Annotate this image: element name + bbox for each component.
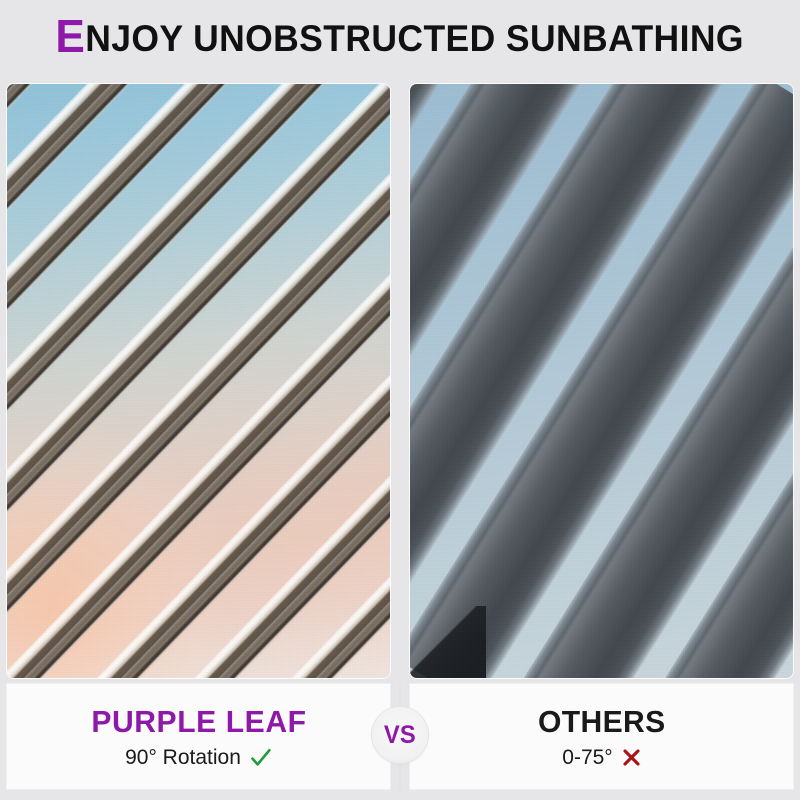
image-panel-others xyxy=(410,84,793,678)
comparison-images xyxy=(7,84,793,678)
headline-rest: NJOY UNOBSTRUCTED SUNBATHING xyxy=(86,18,745,59)
vs-badge-label: VS xyxy=(384,721,416,750)
page-title: ENJOY UNOBSTRUCTED SUNBATHING xyxy=(0,0,800,78)
spec-line-others: 0-75° xyxy=(562,746,640,770)
cross-mark-icon xyxy=(622,748,641,767)
compare-card-others: OTHERS 0-75° xyxy=(410,684,793,789)
headline-text: ENJOY UNOBSTRUCTED SUNBATHING xyxy=(56,18,745,60)
brand-name-purple-leaf: PURPLE LEAF xyxy=(91,704,306,740)
check-mark-icon xyxy=(250,748,272,768)
spec-line-purple-leaf: 90° Rotation xyxy=(125,746,272,770)
compare-card-purple-leaf: PURPLE LEAF 90° Rotation xyxy=(7,684,390,789)
image-panel-purple-leaf xyxy=(7,84,390,678)
photo-grain-right xyxy=(410,84,793,678)
spec-text-purple-leaf: 90° Rotation xyxy=(125,746,241,770)
spec-text-others: 0-75° xyxy=(562,746,612,770)
headline-dropcap: E xyxy=(56,10,86,62)
promo-graphic-root: ENJOY UNOBSTRUCTED SUNBATHING PURPLE LEA… xyxy=(0,0,800,800)
photo-grain-left xyxy=(7,84,390,678)
brand-name-others: OTHERS xyxy=(538,704,666,740)
vs-badge: VS xyxy=(372,707,428,763)
